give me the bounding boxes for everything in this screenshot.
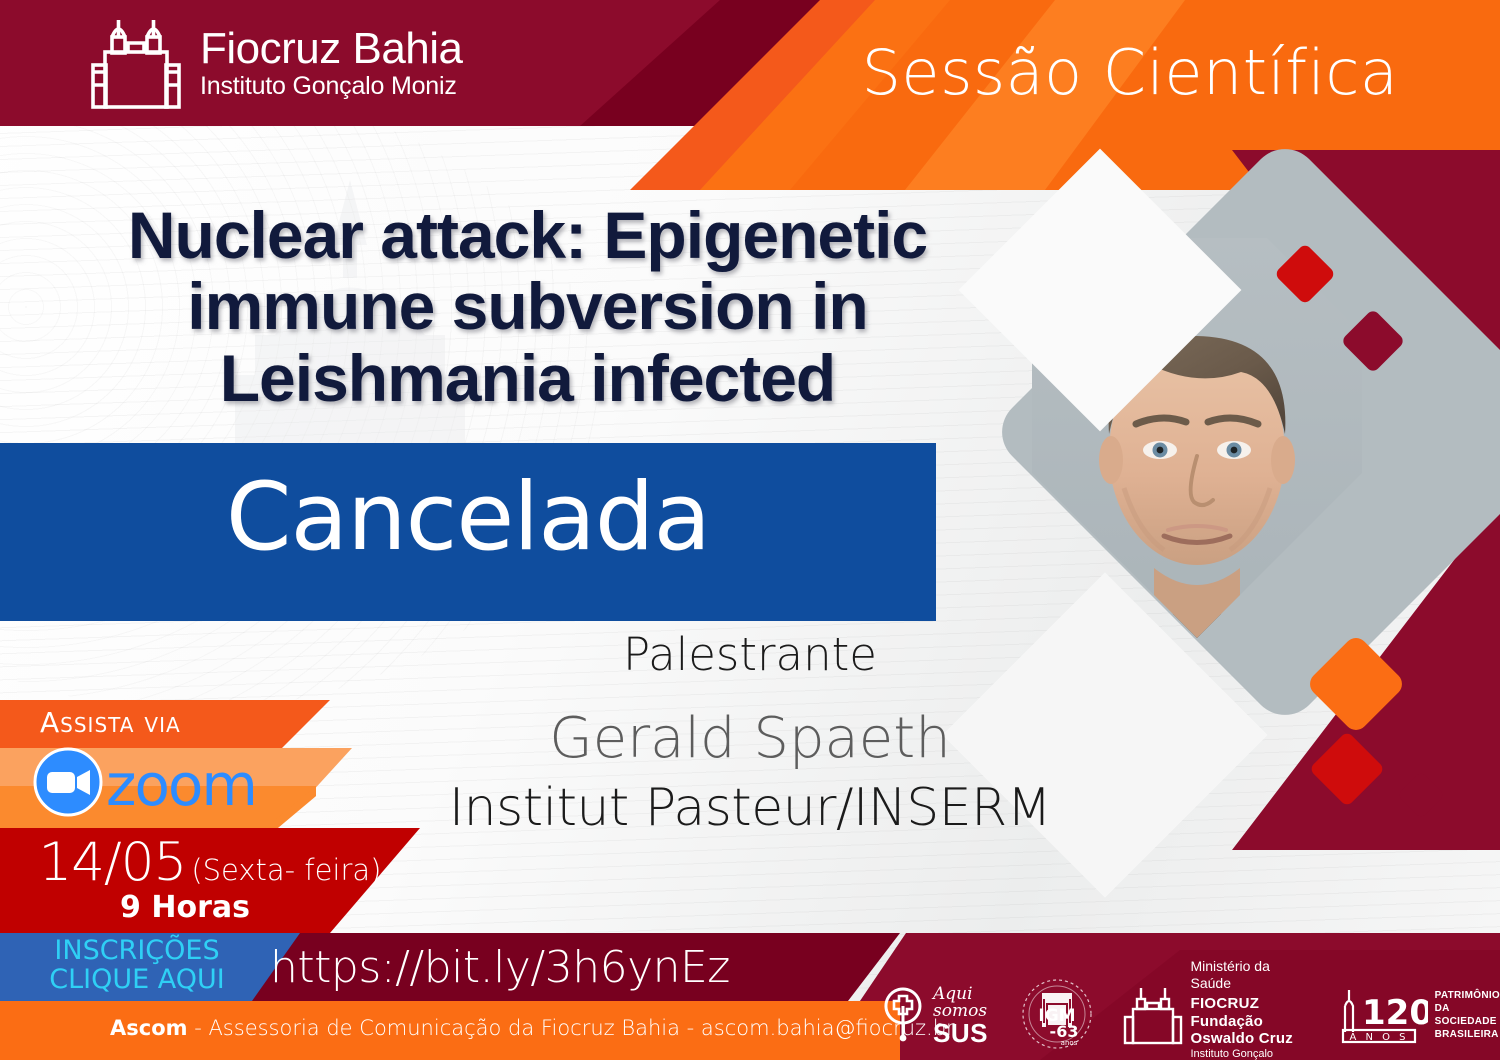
zoom-wordmark: zoom [106, 756, 256, 814]
talk-title-line-2: immune subversion in [10, 271, 1045, 342]
svg-text:A N O S: A N O S [1349, 1032, 1408, 1043]
event-time: 9 Horas [0, 890, 370, 925]
event-date-row: 14/05 (Sexta- feira) [0, 832, 420, 893]
fiocruz-building-icon [1122, 982, 1184, 1051]
footer-credit-rest: - Assessoria de Comunicação da Fiocruz B… [188, 1016, 955, 1040]
sus-pin-cross-icon [880, 985, 926, 1048]
footer-credit-bold: Ascom [110, 1016, 188, 1040]
heritage-line-2: DA SOCIEDADE [1435, 1003, 1500, 1029]
talk-title-line-3: Leishmania infected [10, 343, 1045, 414]
partner-logos: Aqui somos SUS IGM -63 anos [880, 958, 1500, 1060]
igm-logo: IGM -63 anos [1020, 977, 1094, 1056]
logo-institution-name: Fiocruz Bahia [200, 27, 463, 71]
status-badge: Cancelada [0, 463, 936, 572]
ministry-label: Ministério da Saúde [1191, 958, 1304, 991]
speaker-name: Gerald Spaeth [400, 706, 1100, 771]
fiocruz-tower-icon: 120 A N O S [1332, 984, 1428, 1049]
speaker-affiliation: Institut Pasteur/INSERM [380, 778, 1120, 838]
svg-text:120: 120 [1362, 993, 1428, 1033]
sus-wordmark: SUS [933, 1020, 992, 1046]
fiocruz-label: FIOCRUZ [1191, 995, 1304, 1013]
sus-logo: Aqui somos SUS [880, 985, 992, 1048]
logo-institute-name: Instituto Gonçalo Moniz [200, 74, 463, 99]
registration-cta[interactable]: INSCRIÇÕES CLIQUE AQUI [22, 936, 252, 994]
fiocruz-building-icon [88, 10, 186, 115]
fiocruz-foundation-label: Fundação Oswaldo Cruz [1191, 1013, 1304, 1048]
event-weekday: (Sexta- feira) [191, 853, 381, 887]
watch-via-label: Assista via [40, 706, 181, 739]
registration-cta-line-2: CLIQUE AQUI [22, 965, 252, 994]
registration-cta-line-1: INSCRIÇÕES [22, 936, 252, 965]
zoom-logo[interactable]: zoom [32, 746, 256, 823]
event-date: 14/05 [38, 832, 186, 893]
footer-credit: Ascom - Assessoria de Comunicação da Fio… [110, 1016, 955, 1040]
heritage-line-1: PATRIMÔNIO [1435, 990, 1500, 1003]
svg-text:anos: anos [1060, 1039, 1077, 1047]
zoom-video-camera-icon [32, 746, 104, 823]
registration-url[interactable]: https://bit.ly/3h6ynEz [270, 942, 770, 993]
sus-tagline: Aqui somos [933, 986, 992, 1020]
fiocruz-ministry-logo: Ministério da Saúde FIOCRUZ Fundação Osw… [1122, 958, 1304, 1060]
talk-title-line-1: Nuclear attack: Epigenetic [10, 200, 1045, 271]
talk-title: Nuclear attack: Epigenetic immune subver… [10, 200, 1045, 414]
session-type-title: Sessão Científica [800, 36, 1460, 109]
heritage-line-3: BRASILEIRA [1435, 1029, 1500, 1042]
speaker-role-label: Palestrante [400, 628, 1100, 681]
fiocruz-institute-label: Instituto Gonçalo Moniz [1191, 1048, 1304, 1060]
fiocruz-logo: Fiocruz Bahia Instituto Gonçalo Moniz [88, 10, 463, 115]
event-poster: Fiocruz Bahia Instituto Gonçalo Moniz Se… [0, 0, 1500, 1060]
anniversary-logo: 120 A N O S PATRIMÔNIO DA SOCIEDADE BRAS… [1332, 984, 1500, 1049]
igm-seal-icon: IGM -63 anos [1020, 977, 1094, 1056]
